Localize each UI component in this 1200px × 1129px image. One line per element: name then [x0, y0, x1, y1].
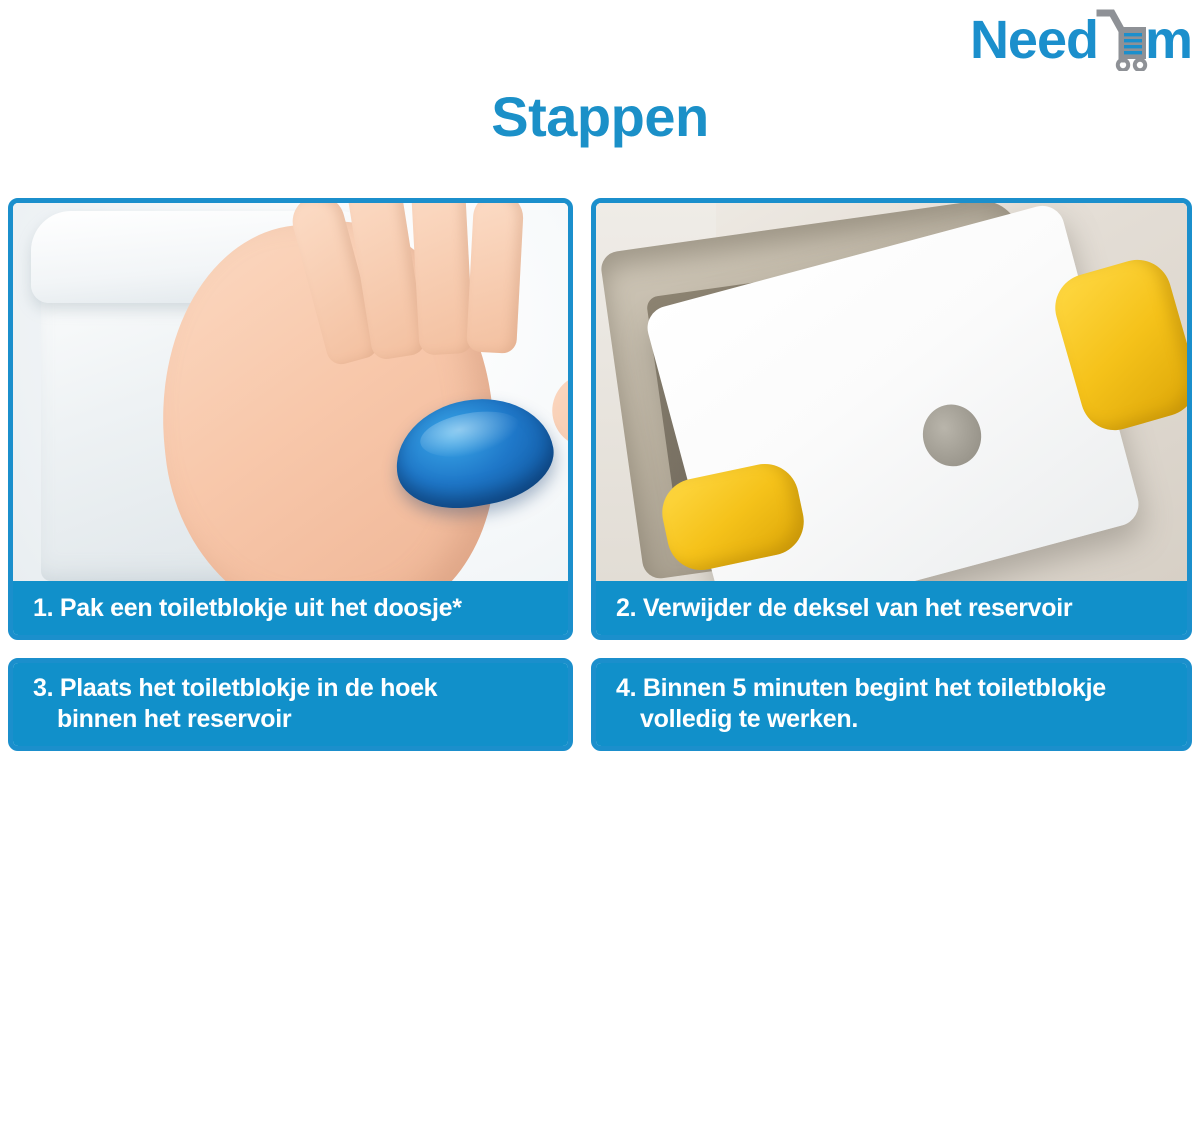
step-card-1: 1. Pak een toiletblokje uit het doosje*: [8, 198, 573, 640]
step-caption-2: 2. Verwijder de deksel van het reservoir: [596, 581, 1187, 636]
brand-text-after: m: [1145, 13, 1192, 67]
step-caption-4-line2: volledig te werken.: [616, 704, 1179, 735]
step-card-3: 3. Plaats het toiletblokje in de hoek bi…: [8, 658, 573, 751]
brand-logo[interactable]: Need m: [970, 8, 1192, 72]
step-caption-3: 3. Plaats het toiletblokje in de hoek bi…: [13, 663, 568, 746]
step-card-2: 2. Verwijder de deksel van het reservoir: [591, 198, 1192, 640]
step-caption-1: 1. Pak een toiletblokje uit het doosje*: [13, 581, 568, 636]
brand-text-before: Need: [970, 13, 1098, 67]
shopping-cart-icon: [1096, 9, 1148, 71]
step-caption-1-line1: 1. Pak een toiletblokje uit het doosje*: [33, 594, 462, 622]
step-card-4: 4. Binnen 5 minuten begint het toiletblo…: [591, 658, 1192, 751]
step-photo-1: [13, 203, 568, 581]
step-caption-4-line1: 4. Binnen 5 minuten begint het toiletblo…: [616, 674, 1106, 702]
page-title: Stappen: [0, 84, 1200, 149]
step-photo-2: [596, 203, 1187, 581]
step-caption-4: 4. Binnen 5 minuten begint het toiletblo…: [596, 663, 1187, 746]
page-header: Need m Stappen: [0, 0, 1200, 190]
steps-grid: 1. Pak een toiletblokje uit het doosje* …: [8, 198, 1192, 751]
step-caption-2-line1: 2. Verwijder de deksel van het reservoir: [616, 594, 1072, 622]
lid-button-hole: [916, 398, 988, 473]
step-caption-3-line1: 3. Plaats het toiletblokje in de hoek: [33, 674, 437, 702]
step-caption-3-line2: binnen het reservoir: [33, 704, 560, 735]
